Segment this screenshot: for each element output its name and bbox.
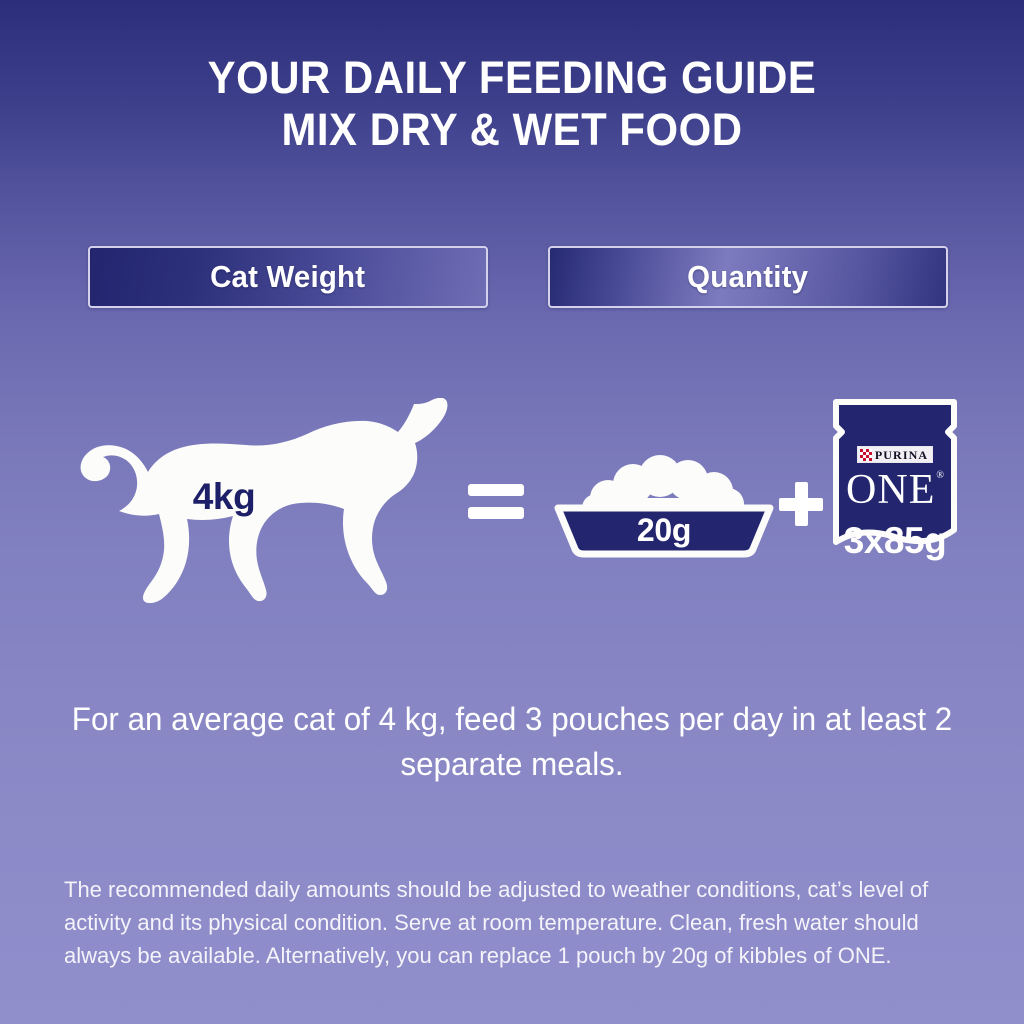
- cat-silhouette: 4kg: [62, 398, 462, 603]
- wet-food-pouch: PURINA ONE® 3x85g: [828, 396, 962, 574]
- trademark-symbol: ®: [936, 470, 945, 481]
- fine-print-text: The recommended daily amounts should be …: [64, 873, 960, 972]
- product-name-one: ONE®: [846, 464, 944, 512]
- purina-checker-icon: [860, 449, 872, 461]
- product-name-one-text: ONE: [846, 467, 935, 513]
- pouch-quantity-value: 3x85g: [844, 520, 946, 562]
- equals-bar-top: [468, 484, 524, 496]
- column-header-quantity: Quantity: [548, 246, 948, 308]
- equals-icon: [468, 484, 524, 519]
- page-title: YOUR DAILY FEEDING GUIDE MIX DRY & WET F…: [0, 52, 1024, 156]
- dry-food-amount: 20g: [548, 512, 780, 549]
- equals-bar-bottom: [468, 507, 524, 519]
- feeding-summary-text: For an average cat of 4 kg, feed 3 pouch…: [71, 697, 953, 787]
- purina-brand-text: PURINA: [875, 449, 928, 461]
- column-header-cat-weight-label: Cat Weight: [210, 259, 365, 295]
- title-line-2: MIX DRY & WET FOOD: [36, 104, 988, 156]
- plus-icon: [779, 482, 823, 526]
- cat-weight-value: 4kg: [62, 476, 386, 518]
- kibble-bowl: 20g: [548, 450, 780, 562]
- title-line-1: YOUR DAILY FEEDING GUIDE: [36, 52, 988, 104]
- column-header-cat-weight: Cat Weight: [88, 246, 488, 308]
- purina-logo: PURINA: [857, 446, 933, 463]
- feeding-equation-row: 4kg 20g: [0, 388, 1024, 613]
- column-header-quantity-label: Quantity: [688, 259, 809, 295]
- plus-bar-vertical: [795, 482, 808, 526]
